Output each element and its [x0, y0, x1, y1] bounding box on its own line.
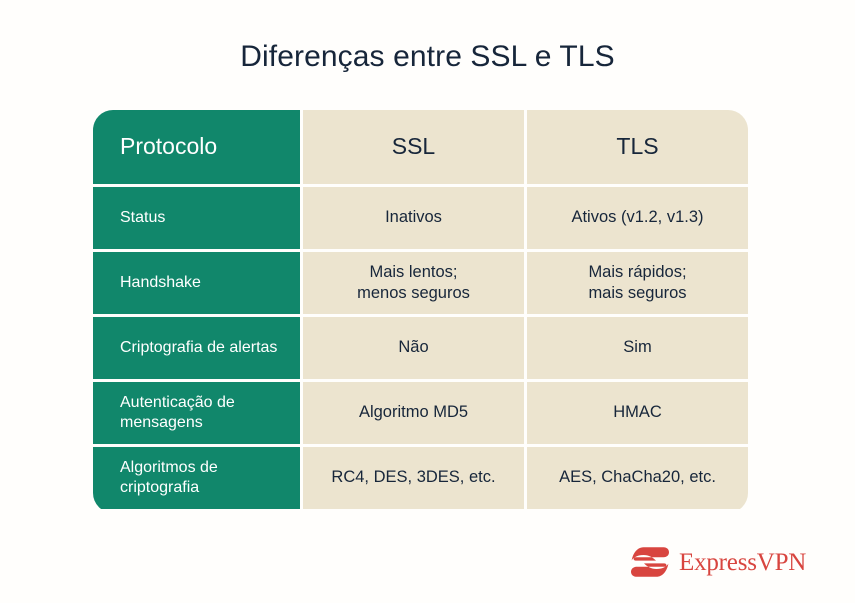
- table-row: Autenticação de mensagens Algoritmo MD5 …: [93, 382, 748, 444]
- table-row-ssl-value: Não: [303, 317, 524, 379]
- table-row-label: Algoritmos de criptografia: [93, 447, 300, 509]
- table-row: Algoritmos de criptografia RC4, DES, 3DE…: [93, 447, 748, 509]
- table-row-label: Autenticação de mensagens: [93, 382, 300, 444]
- table-row-tls-text: Ativos (v1.2, v1.3): [571, 207, 703, 228]
- table-row-label-text: Autenticação de mensagens: [120, 393, 300, 434]
- table-row-ssl-value: RC4, DES, 3DES, etc.: [303, 447, 524, 509]
- expressvpn-e-mark-icon: [630, 545, 670, 579]
- table-header-label-protocol: Protocolo: [120, 132, 217, 161]
- expressvpn-wordmark: ExpressVPN: [679, 550, 806, 575]
- table-row-tls-value: AES, ChaCha20, etc.: [527, 447, 748, 509]
- table-row-label: Criptografia de alertas: [93, 317, 300, 379]
- table-row-ssl-text: Mais lentos; menos seguros: [357, 262, 470, 305]
- table-row: Criptografia de alertas Não Sim: [93, 317, 748, 379]
- table-row-ssl-text: Não: [398, 337, 428, 358]
- table-row-label: Status: [93, 187, 300, 249]
- page-title: Diferenças entre SSL e TLS: [0, 40, 855, 74]
- table-row-tls-text: AES, ChaCha20, etc.: [559, 467, 716, 488]
- table-row-tls-text: Sim: [623, 337, 651, 358]
- table-header-cell-ssl: SSL: [303, 110, 524, 184]
- expressvpn-logo: ExpressVPN: [630, 540, 790, 584]
- table-header-label-ssl: SSL: [392, 132, 435, 162]
- table-header-cell-tls: TLS: [527, 110, 748, 184]
- table-row-ssl-text: Inativos: [385, 207, 442, 228]
- table-row-ssl-value: Inativos: [303, 187, 524, 249]
- table-row-tls-text: HMAC: [613, 402, 662, 423]
- table-row-ssl-text: RC4, DES, 3DES, etc.: [331, 467, 495, 488]
- table-row: Handshake Mais lentos; menos seguros Mai…: [93, 252, 748, 314]
- table-row-label-text: Handshake: [120, 273, 201, 293]
- table-header-label-tls: TLS: [616, 132, 658, 162]
- table-header-cell-protocol: Protocolo: [93, 110, 300, 184]
- table-row-tls-value: Sim: [527, 317, 748, 379]
- table-row-tls-value: Mais rápidos; mais seguros: [527, 252, 748, 314]
- ssl-tls-comparison-table: Protocolo SSL TLS Status Inativos Ativos…: [93, 110, 748, 513]
- table-row-tls-value: HMAC: [527, 382, 748, 444]
- table-row-label-text: Criptografia de alertas: [120, 338, 277, 358]
- table-row-tls-text: Mais rápidos; mais seguros: [588, 262, 686, 305]
- table-header-row: Protocolo SSL TLS: [93, 110, 748, 184]
- table-row: Status Inativos Ativos (v1.2, v1.3): [93, 187, 748, 249]
- table-row-tls-value: Ativos (v1.2, v1.3): [527, 187, 748, 249]
- table-row-ssl-text: Algoritmo MD5: [359, 402, 468, 423]
- table-row-ssl-value: Mais lentos; menos seguros: [303, 252, 524, 314]
- table-row-label: Handshake: [93, 252, 300, 314]
- table-row-ssl-value: Algoritmo MD5: [303, 382, 524, 444]
- table-row-label-text: Status: [120, 208, 165, 228]
- table-row-label-text: Algoritmos de criptografia: [120, 458, 300, 499]
